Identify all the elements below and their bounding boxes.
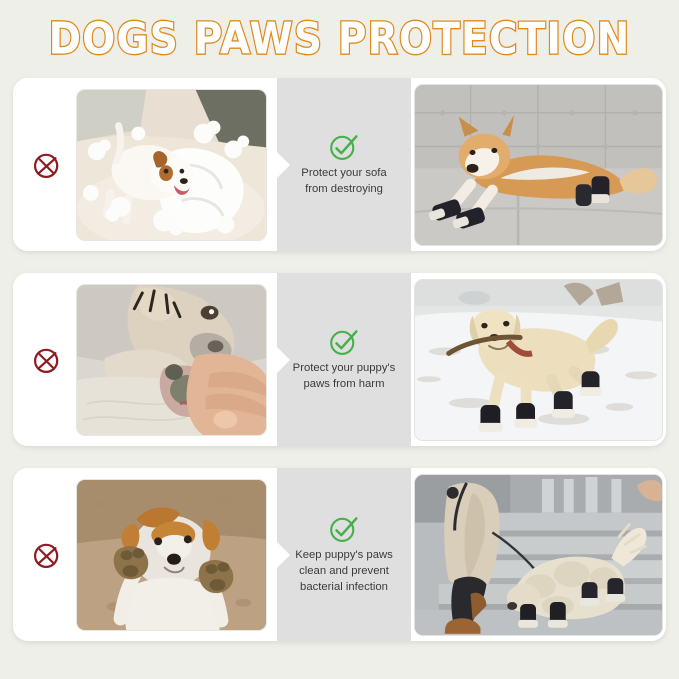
cross-circle-icon: [30, 148, 64, 182]
panel-sofa: Protect your sofa from destroying: [13, 78, 666, 251]
problem-photo-image: [77, 90, 266, 240]
panel-paws-harm: Protect your puppy's paws from harm: [13, 273, 666, 446]
solution-photo: [414, 474, 663, 636]
caption-zone: Protect your sofa from destroying: [277, 78, 411, 251]
caption-zone: Keep puppy's paws clean and prevent bact…: [277, 468, 411, 641]
caption-line-2: paws from harm: [293, 376, 396, 392]
caption-line-1: Protect your puppy's: [293, 360, 396, 376]
problem-photo-image: [77, 285, 266, 435]
arrow-chevron-icon: [277, 347, 290, 373]
solution-photo-image: [415, 280, 662, 441]
problem-photo: [76, 479, 267, 631]
problem-zone: [13, 273, 277, 446]
solution-photo-image: [415, 475, 662, 636]
panel-clean-paws: Keep puppy's paws clean and prevent bact…: [13, 468, 666, 641]
problem-zone: [13, 468, 277, 641]
caption-line-2: from destroying: [301, 181, 386, 197]
solution-photo-image: [415, 85, 662, 246]
caption-line-3: bacterial infection: [295, 579, 393, 595]
title-bar: DOGS PAWS PROTECTION: [0, 0, 679, 78]
check-circle-icon: [329, 132, 359, 162]
problem-photo-image: [77, 480, 266, 630]
arrow-chevron-icon: [277, 152, 290, 178]
caption-line-1: Keep puppy's paws: [295, 547, 393, 563]
check-circle-icon: [329, 514, 359, 544]
problem-photo: [76, 284, 267, 436]
caption-zone: Protect your puppy's paws from harm: [277, 273, 411, 446]
cross-circle-icon: [30, 343, 64, 377]
problem-zone: [13, 78, 277, 251]
solution-photo: [414, 84, 663, 246]
caption-text: Protect your puppy's paws from harm: [287, 360, 402, 392]
solution-zone: [411, 78, 666, 251]
caption-text: Protect your sofa from destroying: [295, 165, 392, 197]
arrow-chevron-icon: [277, 542, 290, 568]
caption-line-2: clean and prevent: [295, 563, 393, 579]
solution-zone: [411, 468, 666, 641]
check-circle-icon: [329, 327, 359, 357]
solution-zone: [411, 273, 666, 446]
caption-line-1: Protect your sofa: [301, 165, 386, 181]
cross-circle-icon: [30, 538, 64, 572]
solution-photo: [414, 279, 663, 441]
page-title: DOGS PAWS PROTECTION: [49, 14, 631, 64]
caption-text: Keep puppy's paws clean and prevent bact…: [289, 547, 399, 595]
panel-list: Protect your sofa from destroying: [0, 78, 679, 641]
problem-photo: [76, 89, 267, 241]
